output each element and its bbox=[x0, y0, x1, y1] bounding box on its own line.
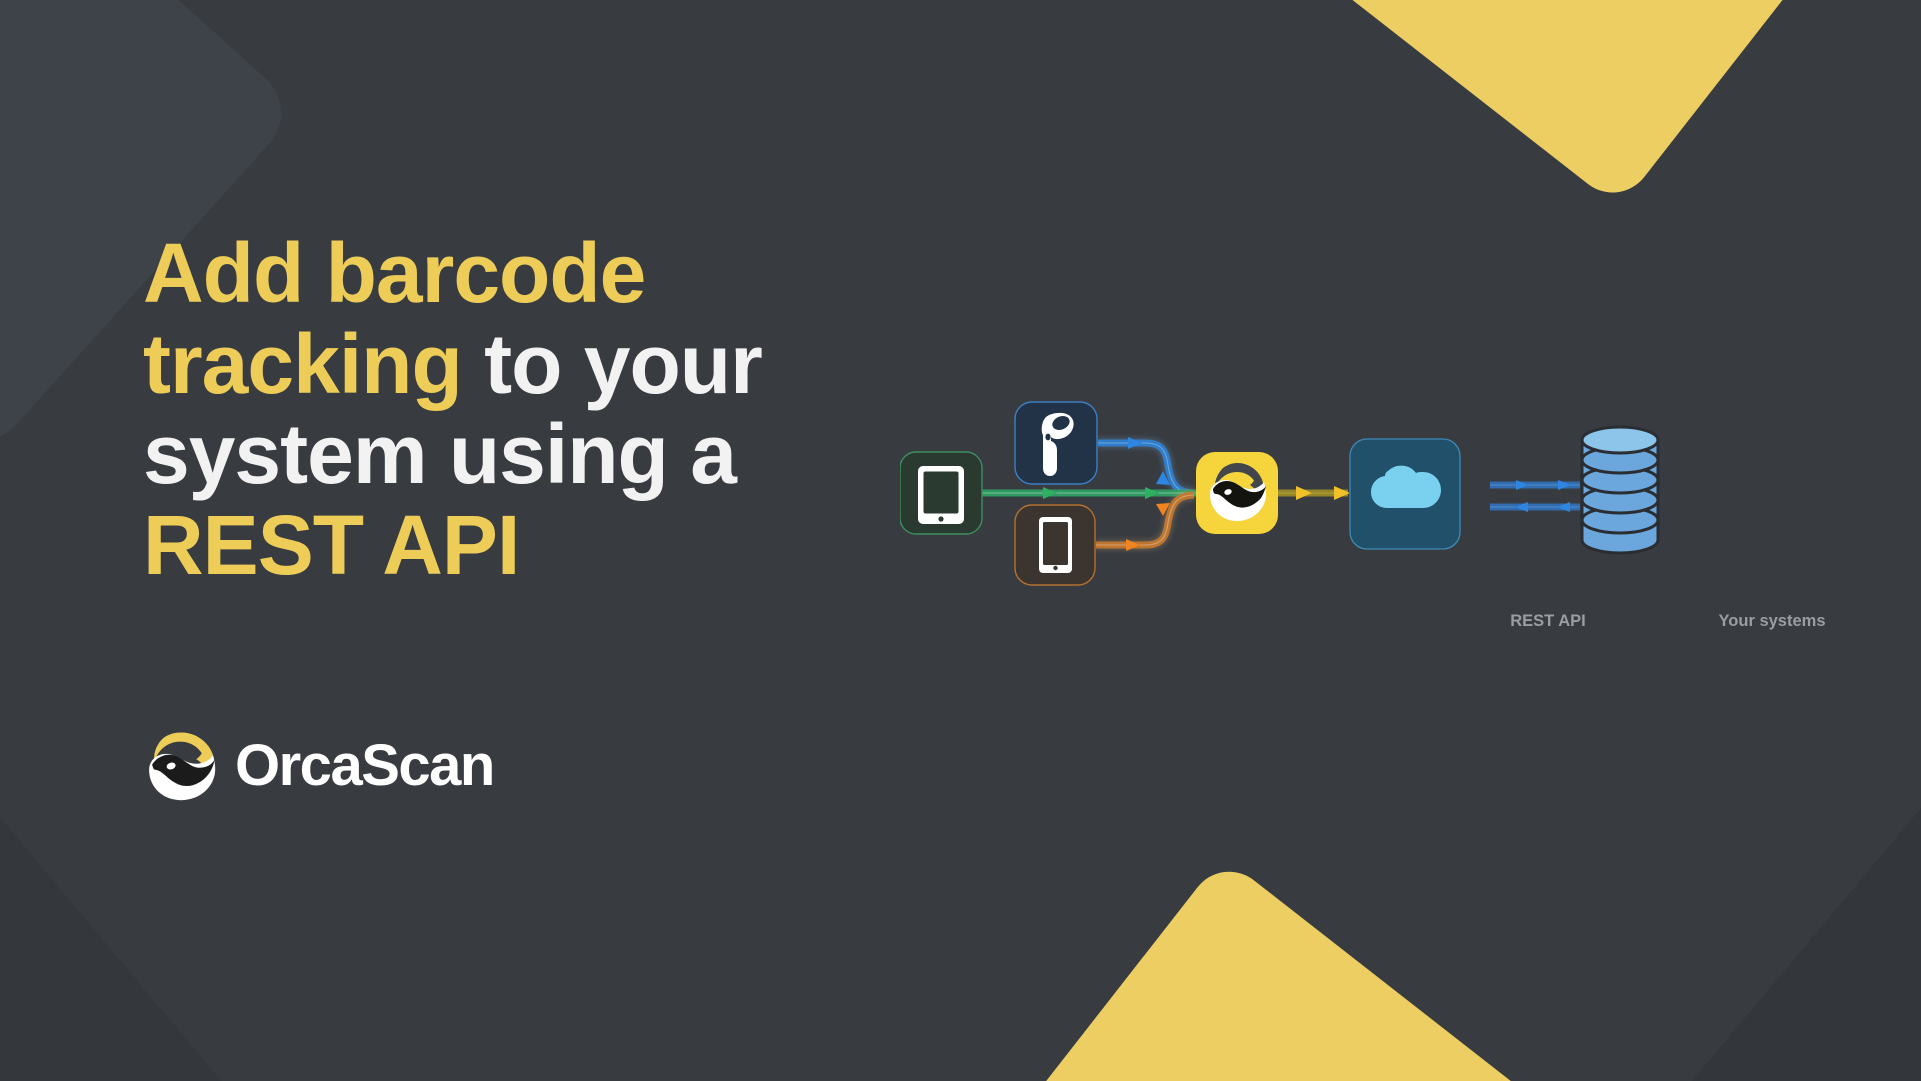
node-rest-api[interactable] bbox=[1350, 439, 1460, 549]
brand-name: OrcaScan bbox=[235, 737, 494, 795]
headline-line-2-white: to your bbox=[462, 317, 762, 411]
rest-api-label: REST API bbox=[1468, 612, 1628, 631]
node-your-systems[interactable] bbox=[1582, 427, 1658, 553]
page-title: Add barcode tracking to your system usin… bbox=[143, 228, 903, 591]
barcode-flow-diagram bbox=[900, 395, 1840, 695]
tablet-icon bbox=[918, 466, 964, 524]
connector-restapi-to-systems bbox=[1490, 480, 1580, 490]
smartphone-icon bbox=[1039, 517, 1072, 573]
headline-line-2: tracking to your bbox=[143, 319, 903, 410]
bottom-center-yellow-card bbox=[964, 856, 1617, 1081]
orca-logo-icon bbox=[143, 728, 219, 804]
top-right-yellow-card bbox=[1202, 0, 1878, 209]
node-tablet[interactable] bbox=[900, 452, 982, 534]
connector-tablet-to-orca bbox=[964, 487, 1200, 499]
connector-scanner-to-orca bbox=[1098, 437, 1194, 493]
headline-line-1-yellow: Add barcode bbox=[143, 226, 645, 320]
headline-line-3: system using a bbox=[143, 409, 903, 500]
headline-line-3-white: system using a bbox=[143, 407, 736, 501]
node-barcode-scanner[interactable] bbox=[1015, 402, 1097, 484]
brand-logo: OrcaScan bbox=[143, 728, 494, 804]
poster-canvas: Add barcode tracking to your system usin… bbox=[0, 0, 1921, 1081]
headline-line-2-yellow: tracking bbox=[143, 317, 462, 411]
connector-orca-to-restapi bbox=[1272, 486, 1350, 500]
your-systems-label: Your systems bbox=[1672, 612, 1872, 631]
headline-line-4-yellow: REST API bbox=[143, 498, 519, 592]
node-smartphone[interactable] bbox=[1015, 505, 1095, 585]
headline-line-4: REST API bbox=[143, 500, 903, 591]
bottom-right-barcode-card bbox=[1612, 701, 1921, 1081]
connector-systems-to-restapi bbox=[1490, 502, 1580, 512]
node-orca-app[interactable] bbox=[1196, 452, 1278, 534]
headline-line-1: Add barcode bbox=[143, 228, 903, 319]
database-icon bbox=[1582, 427, 1658, 553]
connector-phone-to-orca bbox=[1096, 495, 1194, 551]
